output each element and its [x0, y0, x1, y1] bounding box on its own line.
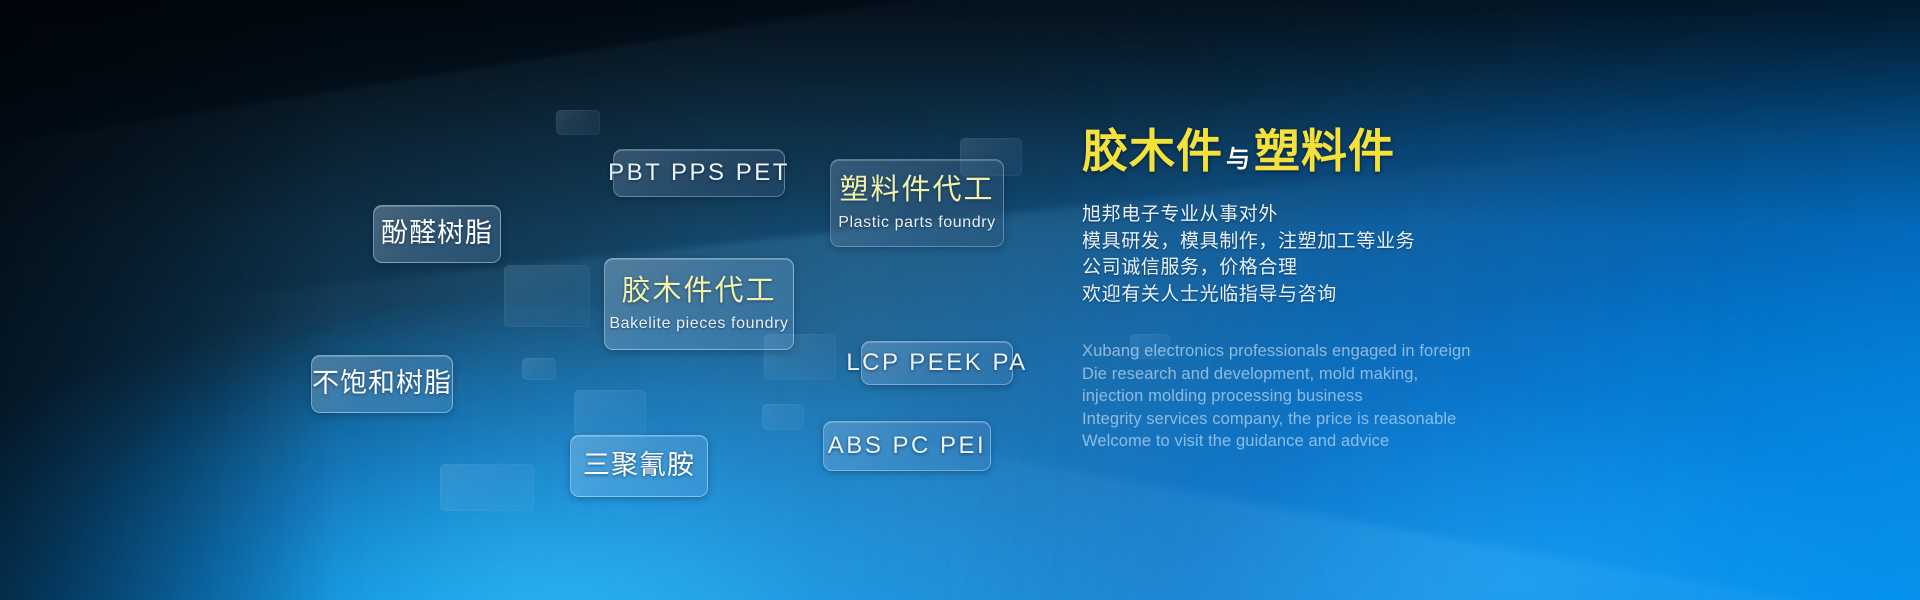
material-card-unsaturated[interactable]: 不饱和树脂: [311, 355, 453, 413]
feature-card-title-cn: 胶木件代工: [621, 275, 776, 308]
material-card-label: 酚醛树脂: [381, 219, 493, 249]
chinese-line: 旭邦电子专业从事对外: [1082, 202, 1782, 229]
material-card-label: 不饱和树脂: [312, 369, 452, 399]
copy-block: 胶木件与塑料件 旭邦电子专业从事对外 模具研发，模具制作，注塑加工等业务 公司诚…: [1082, 128, 1782, 453]
tag-card-abs-pc-pei[interactable]: ABS PC PEI: [823, 421, 991, 471]
decor-rect-1: [556, 110, 600, 135]
feature-card-title-cn: 塑料件代工: [839, 174, 994, 207]
english-line: injection molding processing business: [1082, 385, 1782, 408]
decor-rect-6: [762, 404, 804, 430]
promo-banner: 酚醛树脂 不饱和树脂 三聚氰胺 PBT PPS PET LCP PEEK PA …: [0, 0, 1920, 600]
tag-card-lcp-peek-pa[interactable]: LCP PEEK PA: [861, 341, 1013, 385]
chinese-line: 公司诚信服务，价格合理: [1082, 255, 1782, 282]
material-card-phenolic[interactable]: 酚醛树脂: [373, 205, 501, 263]
tag-card-label: ABS PC PEI: [828, 432, 986, 460]
decor-rect-3: [522, 358, 556, 380]
tag-card-label: PBT PPS PET: [608, 159, 790, 187]
english-line: Xubang electronics professionals engaged…: [1082, 340, 1782, 363]
english-line: Die research and development, mold makin…: [1082, 363, 1782, 386]
feature-card-title-en: Bakelite pieces foundry: [609, 315, 788, 333]
page-title: 胶木件与塑料件: [1082, 128, 1782, 174]
chinese-line: 欢迎有关人士光临指导与咨询: [1082, 282, 1782, 309]
material-card-melamine[interactable]: 三聚氰胺: [570, 435, 708, 497]
tag-card-label: LCP PEEK PA: [846, 349, 1027, 377]
tag-card-pbt-pps-pet[interactable]: PBT PPS PET: [613, 149, 785, 197]
headline-conjunction: 与: [1223, 146, 1254, 173]
headline-part-1: 胶木件: [1082, 125, 1223, 177]
headline-part-2: 塑料件: [1254, 125, 1395, 177]
chinese-line: 模具研发，模具制作，注塑加工等业务: [1082, 229, 1782, 256]
decor-rect-4: [574, 390, 646, 435]
english-description: Xubang electronics professionals engaged…: [1082, 340, 1782, 453]
decor-rect-5: [440, 464, 534, 511]
material-card-label: 三聚氰胺: [583, 451, 695, 481]
vignette-left: [0, 0, 340, 600]
decor-rect-2: [504, 265, 590, 327]
feature-card-plastic[interactable]: 塑料件代工 Plastic parts foundry: [830, 159, 1004, 247]
feature-card-bakelite[interactable]: 胶木件代工 Bakelite pieces foundry: [604, 258, 794, 350]
english-line: Integrity services company, the price is…: [1082, 408, 1782, 431]
feature-card-title-en: Plastic parts foundry: [838, 214, 996, 232]
english-line: Welcome to visit the guidance and advice: [1082, 430, 1782, 453]
chinese-description: 旭邦电子专业从事对外 模具研发，模具制作，注塑加工等业务 公司诚信服务，价格合理…: [1082, 202, 1782, 308]
